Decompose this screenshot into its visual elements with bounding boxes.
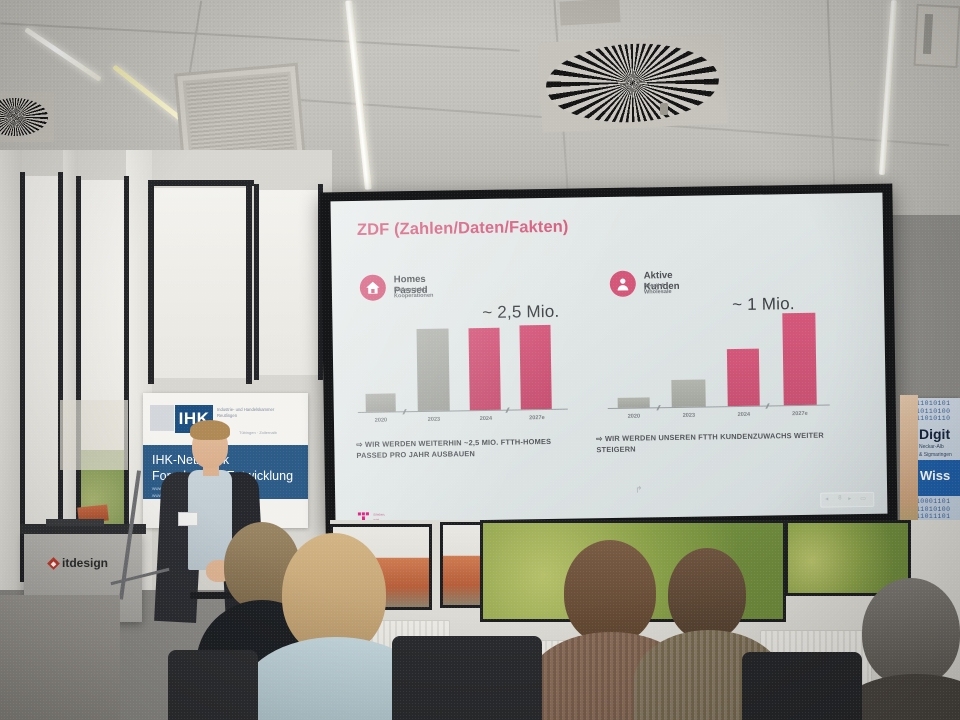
slide-title: ZDF (Zahlen/Daten/Fakten) — [357, 218, 569, 240]
bullet-marker-icon: ⇨ — [596, 434, 603, 443]
chair-back — [392, 636, 542, 720]
bar-2023 — [417, 329, 450, 411]
next-slide-button[interactable]: ▸ — [848, 495, 851, 502]
chart-tick-2023: 2023 — [668, 412, 710, 419]
chart-homes-passed: 2020 2023 2024 2027e // // — [356, 318, 568, 426]
attendee-hair — [564, 540, 656, 644]
poster-title: Digit — [919, 426, 950, 442]
attendee-hair — [862, 578, 960, 686]
axis-break-mark: // — [505, 408, 509, 415]
sprinkler-head — [660, 103, 668, 115]
slide-canvas[interactable]: ZDF (Zahlen/Daten/Fakten) Homes Passed R… — [330, 193, 887, 523]
diffuser-blades — [544, 40, 721, 127]
window-pane — [24, 176, 60, 576]
prev-slide-button[interactable]: ◂ — [825, 496, 828, 503]
diffuser-blades — [0, 98, 48, 136]
bullet-homes-passed: ⇨ WIR WERDEN WEITERHIN ~2,5 MIO. FTTH-HO… — [356, 436, 571, 462]
chair-back — [742, 652, 862, 720]
circular-air-diffuser — [0, 92, 54, 142]
window-mullion — [148, 184, 154, 384]
poster-band: Wiss — [916, 460, 960, 496]
poster-binary-top: 11010101 10110100 11010110 — [916, 400, 960, 423]
chart-tick-2020: 2020 — [615, 413, 653, 420]
ihk-logo-subtitle-line2: Reutlingen — [217, 413, 303, 419]
presentation-screen[interactable]: ZDF (Zahlen/Daten/Fakten) Homes Passed R… — [320, 184, 897, 534]
window-view-sky — [60, 400, 128, 470]
ac-grill — [186, 75, 294, 158]
laptop-on-lectern — [46, 519, 104, 526]
chart-tick-2027e: 2027e — [778, 411, 822, 418]
axis-break-mark: // — [402, 409, 406, 416]
chart-aktive-kunden: 2020 2023 2024 2027e // // — [606, 306, 830, 422]
ceiling-access-panel — [559, 0, 620, 26]
chart-tick-2024: 2024 — [466, 416, 506, 423]
diamond-icon — [47, 557, 60, 570]
poster-subtitle-line1: Neckar-Alb — [919, 444, 952, 452]
bullet-text: WIR WERDEN WEITERHIN ~2,5 MIO. FTTH-HOME… — [356, 437, 551, 461]
window-mullion — [20, 172, 25, 582]
axis-break-mark: // — [656, 405, 660, 412]
slide-page-number: 8 — [838, 495, 841, 501]
bullet-aktive-kunden: ⇨ WIR WERDEN UNSEREN FTTH KUNDENZUWACHS … — [596, 429, 836, 456]
window-mullion — [254, 184, 259, 380]
circular-air-diffuser — [538, 33, 727, 133]
slide-nav-controls[interactable]: ◂ 8 ▸ ▭ — [820, 492, 874, 508]
bar-2027e — [519, 325, 551, 409]
poster-subtitle-line2: & Sigmaringen — [919, 452, 952, 460]
window-pane — [258, 190, 320, 375]
ihk-logo-subtitle: Industrie- und Handelskammer Reutlingen — [217, 407, 303, 419]
bar-2020 — [618, 397, 650, 408]
fullscreen-button[interactable]: ▭ — [860, 495, 866, 502]
person-icon — [610, 271, 636, 297]
poster-band-text: Wiss — [920, 468, 950, 483]
chart-tick-2027e: 2027e — [516, 415, 558, 422]
window-pane — [152, 188, 248, 378]
chair-back — [168, 650, 258, 720]
bullet-marker-icon: ⇨ — [356, 440, 363, 449]
itdesign-logo-text: itdesign — [62, 556, 108, 570]
bar-2023 — [671, 379, 705, 407]
poster-subtitle: Neckar-Alb & Sigmaringen — [919, 444, 952, 459]
chart-tick-2023: 2023 — [414, 416, 454, 423]
window-head — [148, 180, 254, 186]
kpi-subtitle: Rollout inkl. Kooperationen — [394, 287, 434, 300]
presenter-name-badge — [178, 512, 198, 526]
lectern-base — [0, 595, 120, 720]
presenter-hair — [190, 420, 230, 440]
chart-tick-2020: 2020 — [363, 417, 399, 424]
ceiling-vent-panel — [913, 4, 960, 68]
presenter-belt — [190, 592, 234, 599]
bar-2024 — [727, 349, 760, 406]
mouse-cursor-icon: ↱ — [635, 484, 643, 495]
bar-2020 — [366, 393, 396, 411]
wall-column — [0, 150, 22, 590]
chart-tick-2024: 2024 — [724, 412, 764, 419]
bar-2027e — [782, 313, 816, 406]
window-mullion — [124, 176, 129, 580]
bar-2024 — [469, 328, 501, 410]
axis-break-mark: // — [765, 403, 769, 410]
kpi-subtitle: Retail & Wholesale — [644, 283, 672, 295]
bullet-text: WIR WERDEN UNSEREN FTTH KUNDENZUWACHS WE… — [596, 431, 824, 455]
home-icon — [360, 274, 386, 300]
attendee-hair — [668, 548, 746, 640]
photo-scene: IHK Industrie- und Handelskammer Reutlin… — [0, 0, 960, 720]
window-mullion — [246, 184, 252, 384]
